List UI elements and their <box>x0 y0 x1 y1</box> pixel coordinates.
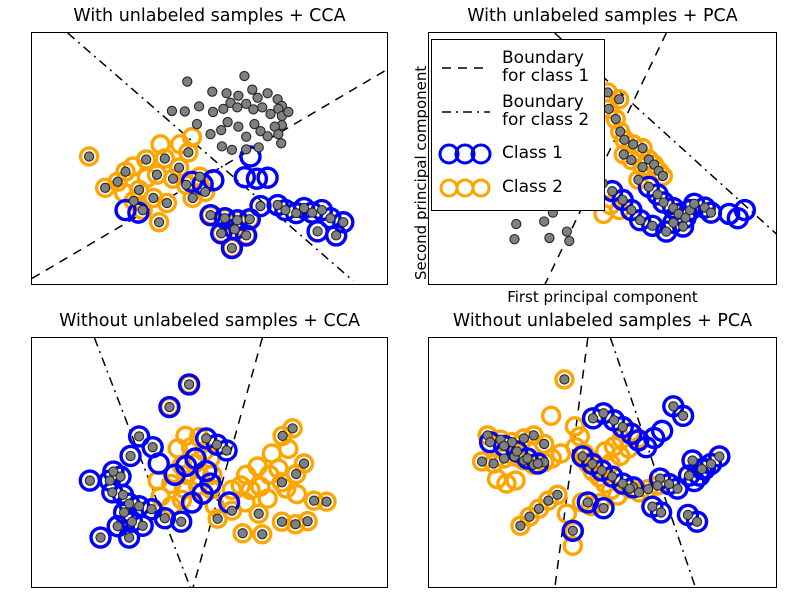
data-point <box>85 152 94 161</box>
data-point <box>248 85 257 94</box>
data-point <box>540 217 549 226</box>
data-point <box>317 206 326 215</box>
data-point <box>648 502 657 511</box>
data-point <box>212 440 221 449</box>
data-point <box>184 380 193 389</box>
legend-item-class-1[interactable]: Class 1 <box>436 136 602 172</box>
data-point <box>665 479 674 488</box>
legend-item-class-2[interactable]: Class 2 <box>436 170 602 206</box>
data-point <box>113 177 122 186</box>
data-point <box>678 222 687 231</box>
data-point <box>249 105 258 114</box>
data-point <box>619 150 628 159</box>
data-point <box>499 441 508 450</box>
data-point <box>291 520 300 529</box>
data-point <box>258 530 267 539</box>
data-point <box>263 89 272 98</box>
data-point <box>653 190 662 199</box>
data-point <box>588 459 597 468</box>
data-point <box>263 445 280 462</box>
data-point <box>599 409 608 418</box>
data-point <box>656 508 665 517</box>
data-point <box>489 459 498 468</box>
data-point <box>644 485 653 494</box>
data-point <box>160 154 169 163</box>
data-point <box>516 521 525 530</box>
data-point <box>625 484 634 493</box>
data-point <box>669 218 678 227</box>
data-point <box>588 414 597 423</box>
data-point <box>477 457 486 466</box>
data-point <box>543 407 560 424</box>
figure-canvas: With unlabeled samples + CCA With unlabe… <box>0 0 800 600</box>
data-point <box>242 132 251 141</box>
data-point <box>277 139 286 148</box>
data-point <box>222 89 231 98</box>
data-point <box>234 122 243 131</box>
data-point <box>254 509 263 518</box>
data-point <box>620 135 629 144</box>
data-point <box>135 432 144 441</box>
data-point <box>629 140 638 149</box>
data-point <box>125 533 134 542</box>
scatter-canvas-bottom-right <box>429 338 777 588</box>
legend-label-b2-line2: for class 2 <box>502 110 589 130</box>
data-point <box>256 201 265 210</box>
data-point <box>126 451 135 460</box>
data-point <box>568 526 577 535</box>
data-point <box>326 214 335 223</box>
data-point <box>184 148 193 157</box>
data-point <box>529 431 538 440</box>
data-point <box>125 499 134 508</box>
legend-item-boundary-class-2[interactable]: Boundary for class 2 <box>436 90 602 134</box>
legend-label-class-1: Class 1 <box>502 145 563 163</box>
data-point <box>659 198 668 207</box>
data-point <box>533 459 542 468</box>
data-point <box>85 476 94 485</box>
data-point <box>277 517 286 526</box>
scatter-canvas-bottom-left <box>32 338 388 588</box>
data-point <box>148 443 157 452</box>
panel-title-top-right: With unlabeled samples + PCA <box>428 8 777 26</box>
data-point <box>182 180 191 189</box>
data-point <box>127 517 136 526</box>
data-point <box>599 504 608 513</box>
data-point <box>545 233 554 242</box>
data-point <box>485 438 494 447</box>
data-point <box>638 162 647 171</box>
panel-title-top-left: With unlabeled samples + CCA <box>31 8 388 26</box>
legend[interactable]: Boundary for class 1 Boundary for class … <box>431 39 605 211</box>
data-point <box>523 454 532 463</box>
data-point <box>309 496 318 505</box>
data-point <box>634 488 643 497</box>
data-point <box>263 132 272 141</box>
data-point <box>194 102 203 111</box>
data-point <box>138 521 147 530</box>
data-point <box>120 508 129 517</box>
dashdot-line-icon <box>436 92 496 132</box>
data-point <box>162 198 171 207</box>
data-point <box>217 126 226 135</box>
data-point <box>206 211 215 220</box>
data-point <box>230 225 239 234</box>
data-point <box>177 517 186 526</box>
panel-title-bottom-left: Without unlabeled samples + CCA <box>31 313 388 331</box>
data-point <box>222 446 231 455</box>
data-point <box>688 456 697 465</box>
y-axis-label: Second principal component <box>414 66 429 280</box>
legend-item-boundary-class-1[interactable]: Boundary for class 1 <box>436 46 602 90</box>
data-point <box>217 142 226 151</box>
data-point <box>206 130 215 139</box>
data-point <box>245 215 254 224</box>
data-point <box>242 231 251 240</box>
data-point <box>284 107 293 116</box>
data-point <box>697 464 706 473</box>
data-point <box>242 145 251 154</box>
data-point <box>129 196 138 205</box>
data-point <box>565 236 574 245</box>
data-point <box>669 402 678 411</box>
data-point <box>208 87 217 96</box>
data-point <box>168 174 177 183</box>
data-point <box>180 107 189 116</box>
data-point <box>152 170 161 179</box>
data-point <box>208 107 217 116</box>
plot-panel-bottom-right[interactable] <box>428 337 777 588</box>
data-point <box>183 77 192 86</box>
data-point <box>174 163 183 172</box>
data-point <box>121 167 130 176</box>
data-point <box>608 472 617 481</box>
data-point <box>108 488 117 497</box>
data-point <box>288 424 297 433</box>
data-point <box>673 484 682 493</box>
data-point <box>648 221 657 230</box>
data-point <box>227 506 236 515</box>
data-point <box>167 106 176 115</box>
data-point <box>715 452 724 461</box>
data-point <box>618 423 627 432</box>
data-point <box>217 229 226 238</box>
data-point <box>101 183 110 192</box>
data-point <box>578 452 587 461</box>
data-point <box>254 143 263 152</box>
data-point <box>135 185 144 194</box>
data-point <box>135 502 144 511</box>
data-point <box>118 490 127 499</box>
data-point <box>281 206 290 215</box>
data-point <box>553 490 562 499</box>
data-point <box>138 206 147 215</box>
boundary-class-1 <box>32 68 388 278</box>
data-point <box>510 235 519 244</box>
data-point <box>220 214 229 223</box>
data-point <box>634 175 643 184</box>
data-point <box>240 71 249 80</box>
data-point <box>192 119 201 128</box>
data-point <box>278 431 287 440</box>
boundary-class-2 <box>68 33 354 281</box>
data-point <box>608 187 617 196</box>
data-point <box>611 114 620 123</box>
data-point <box>512 219 521 228</box>
data-point <box>149 193 158 202</box>
data-point <box>188 193 197 202</box>
data-point <box>274 130 283 139</box>
plot-panel-top-left[interactable] <box>31 32 388 285</box>
data-point <box>96 533 105 542</box>
data-point <box>653 481 662 490</box>
data-point <box>690 199 699 208</box>
data-point <box>499 454 508 463</box>
data-point <box>678 411 687 420</box>
data-point <box>618 195 627 204</box>
data-point <box>233 103 242 112</box>
data-point <box>706 459 715 468</box>
data-point <box>253 93 262 102</box>
data-point <box>560 375 569 384</box>
data-point <box>604 104 613 113</box>
data-point <box>238 529 247 538</box>
data-point <box>662 227 671 236</box>
data-point <box>113 522 122 531</box>
data-point <box>227 243 236 252</box>
data-point <box>683 510 692 519</box>
data-point <box>234 91 243 100</box>
data-point <box>160 514 169 523</box>
data-point <box>562 227 571 236</box>
data-point <box>299 203 308 212</box>
legend-label-class-2: Class 2 <box>502 179 563 197</box>
data-point <box>692 517 701 526</box>
data-point <box>303 517 312 526</box>
data-point <box>201 187 210 196</box>
data-point <box>658 171 667 180</box>
data-point <box>544 496 553 505</box>
data-point <box>195 172 204 181</box>
data-point <box>332 231 341 240</box>
data-point <box>227 145 236 154</box>
data-point <box>519 434 528 443</box>
plot-panel-bottom-left[interactable] <box>31 337 388 588</box>
data-point <box>339 218 348 227</box>
data-point <box>277 478 286 487</box>
data-point <box>615 95 624 104</box>
data-point <box>534 504 543 513</box>
data-point <box>105 476 114 485</box>
data-point <box>627 206 636 215</box>
data-point <box>322 497 331 506</box>
data-point <box>644 182 653 191</box>
data-point <box>154 218 163 227</box>
panel-title-bottom-right: Without unlabeled samples + PCA <box>428 313 777 331</box>
data-point <box>147 505 156 514</box>
data-point <box>223 117 232 126</box>
data-point <box>116 472 125 481</box>
data-point <box>636 216 645 225</box>
data-point <box>299 459 308 468</box>
data-point <box>540 439 549 448</box>
data-point <box>233 216 242 225</box>
data-point <box>202 434 211 443</box>
data-point <box>213 514 222 523</box>
scatter-canvas-top-left <box>32 33 388 285</box>
data-point <box>583 498 592 507</box>
data-point <box>258 103 267 112</box>
x-axis-label: First principal component <box>428 290 777 305</box>
data-point <box>292 469 301 478</box>
data-point <box>706 208 715 217</box>
data-point <box>525 512 534 521</box>
data-point <box>313 227 322 236</box>
class-2-marker-icon <box>436 168 496 208</box>
data-point <box>512 447 521 456</box>
legend-label-b1-line2: for class 1 <box>502 66 589 86</box>
data-point <box>597 466 606 475</box>
data-point <box>142 155 151 164</box>
data-point <box>684 471 693 480</box>
data-point <box>165 402 174 411</box>
data-point <box>638 144 647 153</box>
data-point <box>308 208 317 217</box>
data-point <box>609 416 618 425</box>
dashed-line-icon <box>436 48 496 88</box>
